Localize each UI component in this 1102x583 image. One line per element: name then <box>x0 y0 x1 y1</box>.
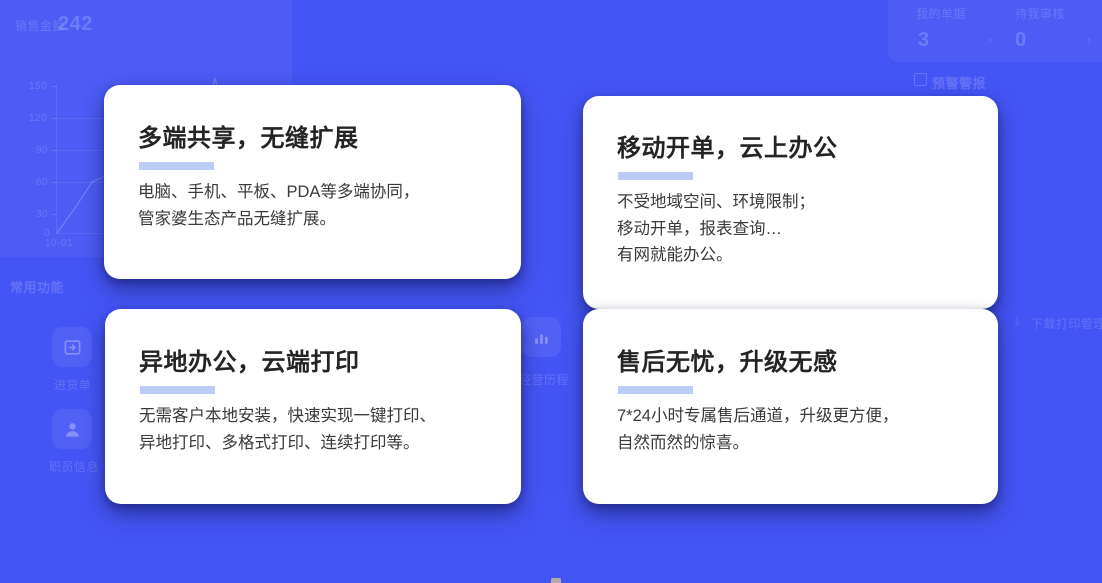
feature-card-grid: 多端共享，无缝扩展 电脑、手机、平板、PDA等多端协同， 管家婆生态产品无缝扩展… <box>0 0 1102 583</box>
feature-card-body-line: 自然而然的惊喜。 <box>617 430 964 457</box>
feature-card-body-line: 不受地域空间、环境限制； <box>617 189 964 216</box>
feature-card-title: 异地办公，云端打印 <box>139 342 487 377</box>
feature-card-after-sales[interactable]: 售后无忧，升级无感 7*24小时专属售后通道，升级更方便， 自然而然的惊喜。 <box>583 309 998 504</box>
title-accent-bar <box>618 386 693 394</box>
feature-card-cloud-printing[interactable]: 异地办公，云端打印 无需客户本地安装，快速实现一键打印、 异地打印、多格式打印、… <box>105 309 521 504</box>
feature-card-body-line: 7*24小时专属售后通道，升级更方便， <box>617 403 964 430</box>
feature-card-title: 移动开单，云上办公 <box>617 128 964 163</box>
feature-card-body-line: 有网就能办公。 <box>617 242 964 269</box>
page-root: 销售金额 242 150 120 90 60 30 0 10-01 我的单据 3… <box>0 0 1102 583</box>
feature-card-body-line: 电脑、手机、平板、PDA等多端协同， <box>138 179 487 206</box>
feature-card-body: 不受地域空间、环境限制； 移动开单，报表查询… 有网就能办公。 <box>617 189 964 269</box>
title-accent-bar <box>618 172 693 180</box>
feature-card-body: 无需客户本地安装，快速实现一键打印、 异地打印、多格式打印、连续打印等。 <box>139 403 487 456</box>
feature-card-title: 售后无忧，升级无感 <box>617 342 964 377</box>
title-accent-bar <box>140 386 215 394</box>
feature-card-title: 多端共享，无缝扩展 <box>138 118 487 153</box>
feature-card-mobile-billing[interactable]: 移动开单，云上办公 不受地域空间、环境限制； 移动开单，报表查询… 有网就能办公… <box>583 96 998 309</box>
title-accent-bar <box>139 162 214 170</box>
feature-card-body: 7*24小时专属售后通道，升级更方便， 自然而然的惊喜。 <box>617 403 964 456</box>
feature-card-body: 电脑、手机、平板、PDA等多端协同， 管家婆生态产品无缝扩展。 <box>138 179 487 232</box>
feature-card-body-line: 移动开单，报表查询… <box>617 216 964 243</box>
feature-card-body-line: 管家婆生态产品无缝扩展。 <box>138 206 487 233</box>
feature-card-body-line: 异地打印、多格式打印、连续打印等。 <box>139 430 487 457</box>
feature-card-body-line: 无需客户本地安装，快速实现一键打印、 <box>139 403 487 430</box>
feature-card-multi-terminal[interactable]: 多端共享，无缝扩展 电脑、手机、平板、PDA等多端协同， 管家婆生态产品无缝扩展… <box>104 85 521 279</box>
